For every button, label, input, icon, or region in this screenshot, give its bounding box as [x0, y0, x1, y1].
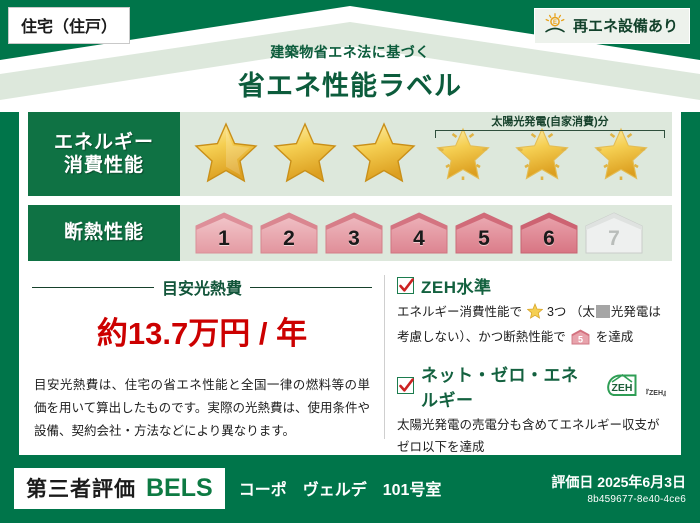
insulation-grade-label: 7: [583, 227, 645, 251]
insulation-grade-1: 1: [193, 211, 255, 255]
zeh-logo-text: ZEH: [612, 382, 633, 394]
star-slot: [581, 121, 660, 188]
criterion-net-zero-energy: ネット・ゼロ・エネルギー ZEH 『ZEH』 太陽光発電の売電分も含めてエネルギ…: [397, 361, 670, 459]
bels-en-label: BELS: [146, 474, 213, 503]
criterion-text-part1: エネルギー消費性能で: [397, 305, 522, 319]
star-rating: [180, 112, 672, 196]
insulation-grade-5: 5: [453, 211, 515, 255]
star-icon-solid: [352, 121, 416, 188]
bottom-bar: 第三者評価 BELS コーポ ヴェルデ 101号室 評価日 2025年6月3日 …: [0, 457, 700, 523]
criterion-title: ネット・ゼロ・エネルギー: [421, 361, 590, 411]
star-icon-solid: [273, 121, 337, 188]
star-icon-solid: [194, 121, 258, 188]
criterion-body: 太陽光発電の売電分も含めてエネルギー収支がゼロ以下を達成: [397, 414, 670, 459]
section-divider: [384, 275, 385, 439]
evaluation-date: 評価日 2025年6月3日: [551, 472, 686, 492]
star-icon-solar: [510, 121, 574, 188]
insulation-performance-value: 1 2: [180, 205, 672, 261]
energy-performance-value: 太陽光発電(自家消費)分: [180, 112, 672, 196]
utility-cost-section: 目安光熱費 約13.7万円 / 年 目安光熱費は、住宅の省エネ性能と全国一律の燃…: [28, 273, 378, 445]
utility-cost-value: 約13.7万円 / 年: [32, 308, 372, 353]
heading-rule-left: [32, 287, 154, 288]
renewable-energy-badge: E 再エネ設備あり: [534, 8, 690, 44]
insulation-grade-7: 7: [583, 211, 645, 255]
utility-cost-note: 目安光熱費は、住宅の省エネ性能と全国一律の燃料等の単価を用いて算出したものです。…: [32, 374, 372, 443]
energy-label-line1: エネルギー: [54, 131, 154, 154]
insulation-grade-label: 1: [193, 227, 255, 251]
criterion-text-star: 3つ （太: [547, 305, 595, 319]
building-name: コーポ ヴェルデ 101号室: [239, 476, 552, 500]
insulation-grade-2: 2: [258, 211, 320, 255]
masked-character: [596, 305, 610, 318]
criterion-text-part3: を達成: [596, 330, 634, 344]
zeh-logo-superscript: 『ZEH』: [642, 388, 670, 398]
criteria-section: ZEH水準 エネルギー消費性能で 3つ （太光発電は考慮しない）、かつ断熱性能で: [397, 273, 672, 445]
housing-type-label: 住宅（住戸）: [21, 19, 117, 36]
insulation-grade-4: 4: [388, 211, 450, 255]
bels-certification-box: 第三者評価 BELS: [14, 468, 225, 509]
insulation-grade-label: 4: [388, 227, 450, 251]
title-main: 省エネ性能ラベル: [0, 64, 700, 103]
evaluation-date-value: 2025年6月3日: [597, 474, 686, 490]
insulation-grade-6: 6: [518, 211, 580, 255]
zeh-house-logo: ZEH 『ZEH』: [601, 373, 670, 398]
criterion-header: ZEH水準: [397, 273, 670, 298]
housing-type-tag: 住宅（住戸）: [8, 7, 130, 44]
insulation-grade-label: 6: [518, 227, 580, 251]
evaluation-date-label: 評価日: [551, 474, 593, 490]
insulation-label-text: 断熱性能: [64, 221, 144, 244]
insulation-grade-label: 2: [258, 227, 320, 251]
insulation-grade-label: 5: [453, 227, 515, 251]
evaluation-meta: 評価日 2025年6月3日 8b459677-8e40-4ce6: [551, 472, 686, 505]
title-subtitle: 建築物省エネ法に基づく: [0, 42, 700, 62]
sun-icon: E: [544, 13, 566, 38]
evaluation-id: 8b459677-8e40-4ce6: [551, 494, 686, 505]
star-slot: [186, 121, 265, 188]
label-lower-section: 目安光熱費 約13.7万円 / 年 目安光熱費は、住宅の省エネ性能と全国一律の燃…: [28, 273, 672, 445]
energy-performance-label: 住宅（住戸） E 再エネ設備あり 建築物省エネ法に基づく 省エネ性能ラベル: [0, 0, 700, 523]
star-icon: [527, 308, 546, 322]
insulation-grade-label: 3: [323, 227, 385, 251]
criterion-header: ネット・ゼロ・エネルギー ZEH 『ZEH』: [397, 361, 670, 411]
star-icon-solar: [589, 121, 653, 188]
criterion-zeh-standard: ZEH水準 エネルギー消費性能で 3つ （太光発電は考慮しない）、かつ断熱性能で: [397, 273, 670, 353]
star-slot: [423, 121, 502, 188]
insulation-grade-scale: 1 2: [180, 205, 672, 261]
insulation-performance-label: 断熱性能: [28, 205, 180, 261]
heading-rule-right: [250, 287, 372, 288]
checkbox-checked-icon[interactable]: [397, 277, 414, 294]
svg-text:E: E: [553, 20, 557, 26]
page-title: 建築物省エネ法に基づく 省エネ性能ラベル: [0, 42, 700, 103]
grade-badge-value: 5: [578, 335, 583, 345]
grade-badge-icon: 5: [571, 334, 593, 348]
renewable-badge-label: 再エネ設備あり: [573, 15, 678, 36]
utility-cost-heading: 目安光熱費: [32, 275, 372, 299]
criterion-body: エネルギー消費性能で 3つ （太光発電は考慮しない）、かつ断熱性能で 5 を達成: [397, 301, 670, 353]
star-icon-solar: [431, 121, 495, 188]
insulation-performance-row: 断熱性能 1: [28, 205, 672, 261]
energy-performance-label: エネルギー 消費性能: [28, 112, 180, 196]
star-slot: [502, 121, 581, 188]
insulation-grade-3: 3: [323, 211, 385, 255]
energy-label-line2: 消費性能: [64, 154, 144, 177]
star-slot: [265, 121, 344, 188]
utility-cost-heading-label: 目安光熱費: [162, 275, 242, 299]
criterion-title: ZEH水準: [421, 273, 492, 298]
energy-performance-row: エネルギー 消費性能 太陽光発電(自家消費)分: [28, 112, 672, 196]
checkbox-checked-icon[interactable]: [397, 377, 414, 394]
bels-jp-label: 第三者評価: [26, 473, 136, 503]
star-slot: [344, 121, 423, 188]
label-card: エネルギー 消費性能 太陽光発電(自家消費)分: [19, 103, 681, 455]
